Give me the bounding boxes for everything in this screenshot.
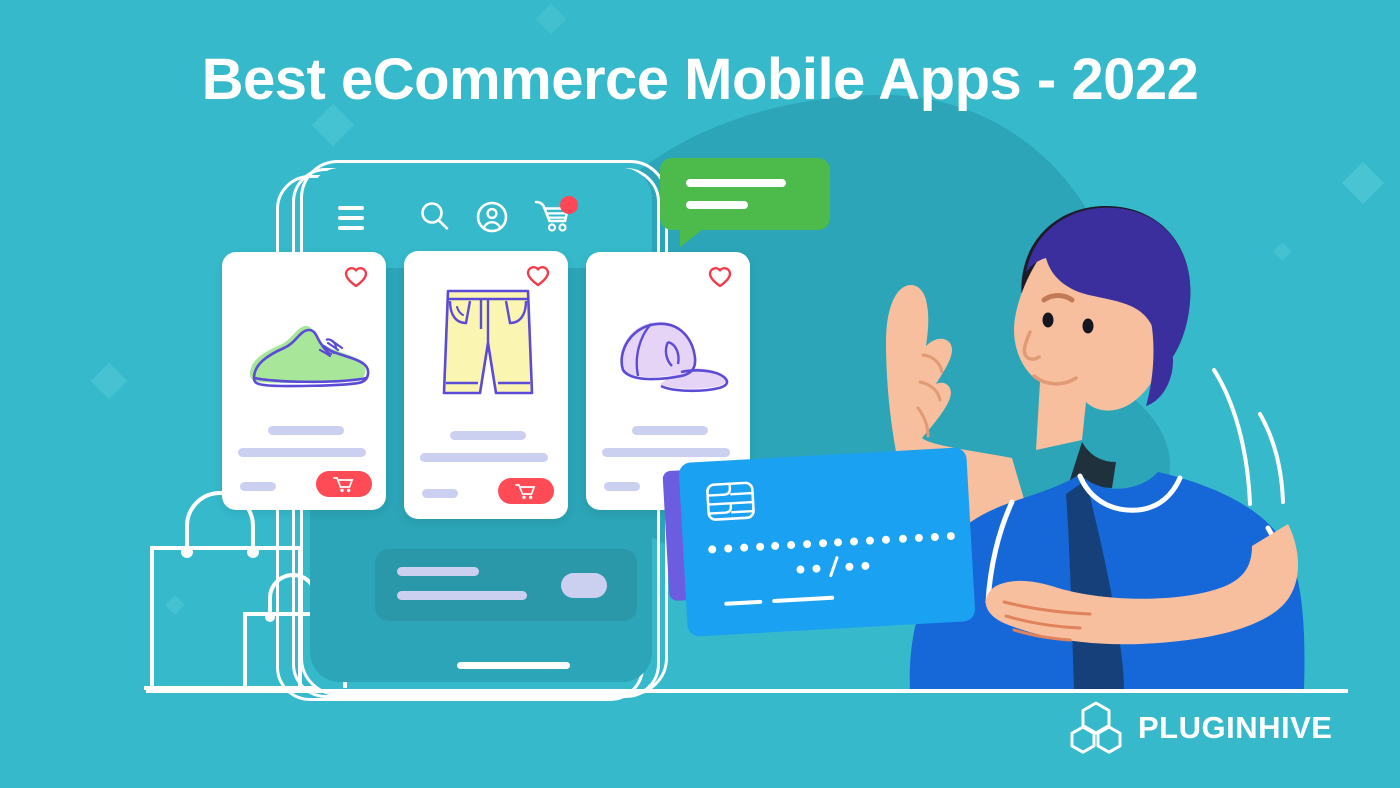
- panel-action-button[interactable]: [561, 573, 607, 598]
- card-text-line-1: [632, 426, 708, 435]
- credit-card[interactable]: [678, 447, 975, 637]
- favorite-heart-icon[interactable]: [526, 265, 550, 287]
- card-text-line-2: [238, 448, 366, 457]
- panel-line-2: [397, 591, 527, 600]
- page-title: Best eCommerce Mobile Apps - 2022: [0, 46, 1400, 113]
- card-text-line-2: [602, 448, 730, 457]
- favorite-heart-icon[interactable]: [708, 266, 732, 288]
- ground-line: [146, 689, 1348, 693]
- card-price-line: [604, 482, 640, 491]
- card-chip-icon: [706, 481, 756, 522]
- card-text-line-2: [420, 453, 548, 462]
- favorite-heart-icon[interactable]: [344, 266, 368, 288]
- card-expiry-slash: [829, 556, 839, 578]
- cap-illustration: [606, 314, 734, 398]
- decor-diamond-1: [535, 3, 566, 34]
- cart-badge: [560, 196, 578, 214]
- chat-bubble-line-1: [686, 179, 786, 187]
- card-text-line-1: [450, 431, 526, 440]
- motion-lines: [1198, 362, 1328, 512]
- card-number-group-3: [834, 535, 890, 546]
- hexagon-cluster-icon: [1068, 700, 1124, 756]
- hamburger-menu-icon[interactable]: [338, 206, 364, 230]
- brand-logo[interactable]: PLUGINHIVE: [1068, 700, 1332, 756]
- card-price-line: [240, 482, 276, 491]
- card-number-group-1: [708, 543, 764, 554]
- decor-diamond-3: [91, 363, 128, 400]
- account-icon[interactable]: [475, 200, 509, 234]
- search-icon[interactable]: [418, 200, 452, 234]
- add-to-cart-button[interactable]: [498, 478, 554, 504]
- shorts-illustration: [440, 285, 536, 407]
- card-expiry-year: [845, 562, 869, 571]
- card-number-group-2: [771, 539, 827, 550]
- home-indicator: [457, 662, 570, 669]
- product-card-sneaker[interactable]: [222, 252, 386, 510]
- app-topbar-icons: [330, 196, 570, 236]
- sneaker-illustration: [236, 310, 376, 400]
- cart-icon[interactable]: [534, 198, 574, 236]
- card-expiry-month: [796, 564, 820, 573]
- panel-line-1: [397, 567, 479, 576]
- card-holder-line-1: [724, 600, 762, 606]
- card-price-line: [422, 489, 458, 498]
- phone-bottom-panel: [375, 549, 637, 621]
- chat-bubble-line-2: [686, 201, 748, 209]
- poster-canvas: Best eCommerce Mobile Apps - 2022: [0, 0, 1400, 788]
- card-text-line-1: [268, 426, 344, 435]
- add-to-cart-button[interactable]: [316, 471, 372, 497]
- card-holder-line-2: [772, 596, 834, 603]
- brand-logo-text: PLUGINHIVE: [1138, 710, 1332, 746]
- card-number-group-4: [899, 532, 955, 543]
- product-card-shorts[interactable]: [404, 251, 568, 519]
